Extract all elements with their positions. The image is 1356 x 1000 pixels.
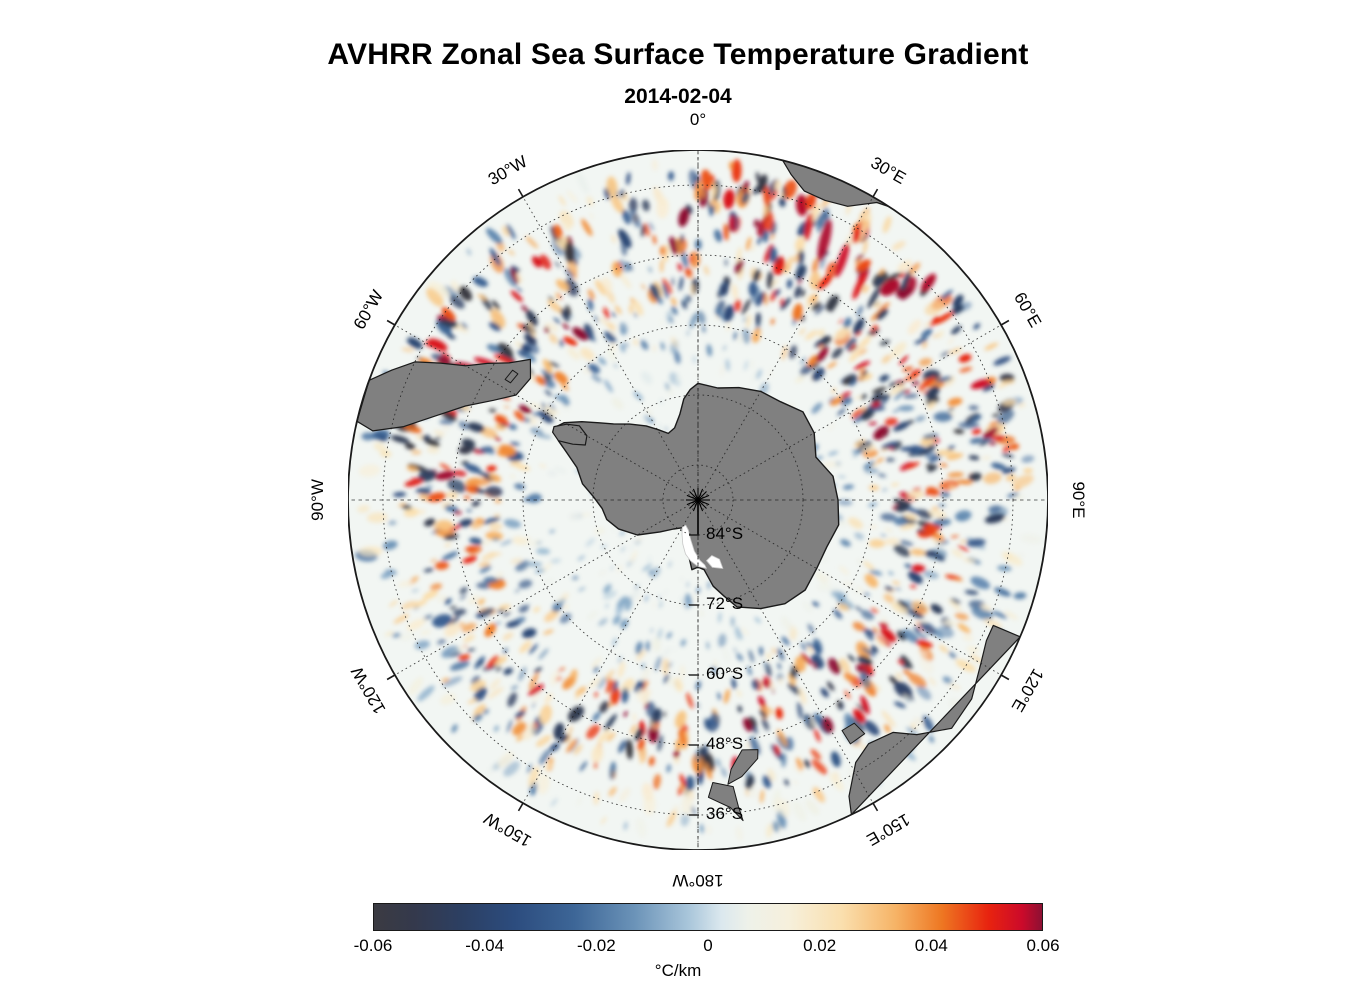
colorbar-tick-label: 0.06: [1026, 936, 1059, 956]
colorbar-tick-label: -0.04: [465, 936, 504, 956]
colorbar-tick-label: -0.02: [577, 936, 616, 956]
latitude-label: 60°S: [706, 664, 743, 684]
polar-map: 0°30°E60°E90°E120°E150°E180°W150°W120°W9…: [348, 150, 1048, 850]
colorbar: -0.06-0.04-0.0200.020.040.06 °C/km: [0, 898, 1356, 998]
latitude-label: 84°S: [706, 524, 743, 544]
colorbar-tick-label: 0: [703, 936, 712, 956]
figure-subtitle: 2014-02-04: [0, 85, 1356, 109]
figure-canvas: AVHRR Zonal Sea Surface Temperature Grad…: [0, 0, 1356, 1000]
polar-map-svg: [348, 150, 1048, 850]
colorbar-gradient: [373, 903, 1043, 931]
longitude-label: 90°W: [308, 479, 328, 521]
latitude-label: 48°S: [706, 734, 743, 754]
colorbar-tick-label: -0.06: [354, 936, 393, 956]
page-title: AVHRR Zonal Sea Surface Temperature Grad…: [0, 38, 1356, 72]
longitude-label: 90°E: [1068, 481, 1088, 518]
colorbar-tick-label: 0.02: [803, 936, 836, 956]
latitude-label: 36°S: [706, 804, 743, 824]
longitude-label: 180°W: [672, 870, 723, 890]
latitude-label: 72°S: [706, 594, 743, 614]
colorbar-unit-label: °C/km: [0, 961, 1356, 981]
longitude-label: 0°: [690, 110, 706, 130]
colorbar-tick-label: 0.04: [915, 936, 948, 956]
